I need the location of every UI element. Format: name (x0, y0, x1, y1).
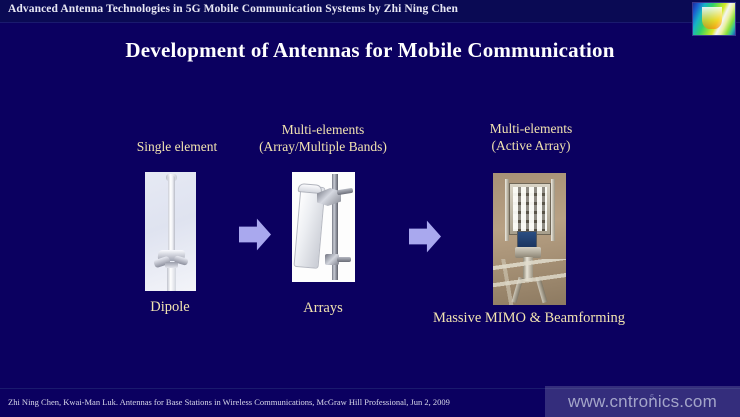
header-divider (0, 22, 740, 23)
massive-mimo-array-photo (493, 173, 566, 305)
mimo-rail-right (551, 179, 555, 241)
caption-dipole: Dipole (110, 299, 230, 316)
antenna-connector-shape (165, 262, 178, 268)
dipole-antenna-photo (145, 172, 196, 291)
mimo-scaffold-shape (493, 259, 566, 305)
watermark-text: www.cntronics.com (568, 392, 717, 412)
logo-inner-shape (702, 7, 721, 29)
panel-array-antenna-photo (292, 172, 355, 282)
right-arrow-icon (409, 220, 441, 253)
column-heading-line: (Active Array) (416, 137, 646, 154)
footer-citation: Zhi Ning Chen, Kwai-Man Luk. Antennas fo… (8, 397, 450, 407)
em-field-simulation-logo-icon (692, 2, 736, 36)
array-bottom-arm-shape (337, 257, 351, 262)
watermark-bar: www.cntronics.com (545, 386, 740, 417)
page-title: Development of Antennas for Mobile Commu… (0, 38, 740, 63)
column-heading-line: Multi-elements (416, 120, 646, 137)
column-heading-line: (Array/Multiple Bands) (208, 138, 438, 155)
caption-arrays: Arrays (263, 300, 383, 317)
mimo-radio-unit-shape (517, 231, 537, 248)
array-top-arm-shape (337, 188, 354, 195)
presentation-slide: Advanced Antenna Technologies in 5G Mobi… (0, 0, 740, 417)
column-heading-multi-elements-active: Multi-elements (Active Array) (416, 120, 646, 154)
column-heading-line: Multi-elements (208, 121, 438, 138)
right-arrow-icon (239, 218, 271, 251)
slide-header-title: Advanced Antenna Technologies in 5G Mobi… (8, 3, 458, 15)
mimo-element-grid (513, 187, 547, 231)
column-heading-multi-elements-array: Multi-elements (Array/Multiple Bands) (208, 121, 438, 155)
caption-massive-mimo: Massive MIMO & Beamforming (398, 310, 660, 327)
antenna-radome-shape (168, 176, 175, 256)
mimo-panel-shape (509, 183, 551, 235)
